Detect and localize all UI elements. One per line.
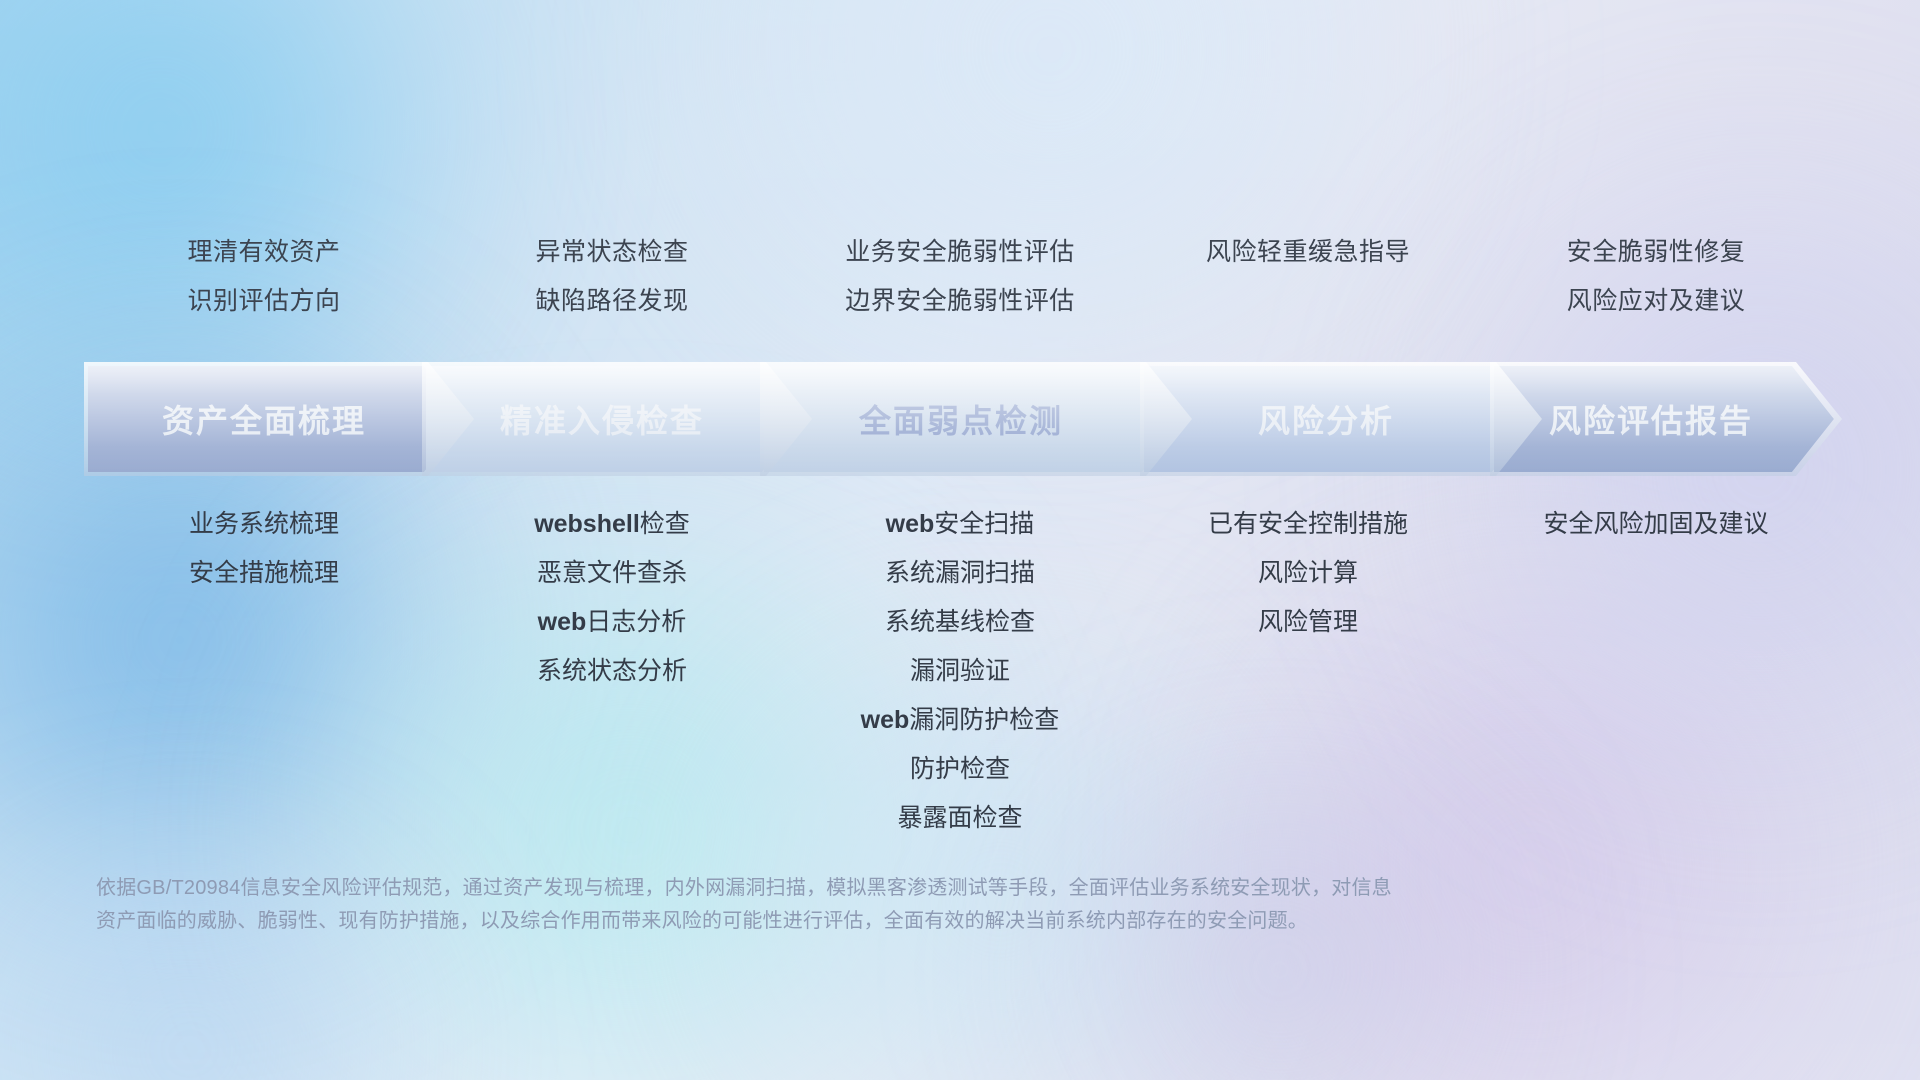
detail-item: 系统基线检查 [786, 598, 1134, 647]
top-note-line: 理清有效资产 [90, 228, 438, 277]
footer-line-2: 资产面临的威胁、脆弱性、现有防护措施，以及综合作用而带来风险的可能性进行评估，全… [96, 905, 1616, 938]
detail-item-cjk: 系统状态分析 [537, 657, 687, 685]
top-note-column-5: 安全脆弱性修复 风险应对及建议 [1482, 228, 1830, 326]
footer-line-1: 依据GB/T20984信息安全风险评估规范，通过资产发现与梳理，内外网漏洞扫描，… [96, 872, 1616, 905]
detail-item: 风险管理 [1134, 598, 1482, 647]
detail-item-latin: web [538, 608, 587, 636]
detail-item-cjk: 安全措施梳理 [189, 559, 339, 587]
detail-item-latin: webshell [534, 510, 640, 538]
detail-column-3: web安全扫描系统漏洞扫描系统基线检查漏洞验证web漏洞防护检查防护检查暴露面检… [786, 500, 1134, 843]
detail-column-2: webshell检查恶意文件查杀web日志分析系统状态分析 [438, 500, 786, 696]
top-note-line: 风险应对及建议 [1482, 277, 1830, 326]
top-note-line: 识别评估方向 [90, 277, 438, 326]
detail-item: 系统状态分析 [438, 647, 786, 696]
detail-item: webshell检查 [438, 500, 786, 549]
chevron-outline [1140, 362, 1542, 476]
chevron-outline [760, 362, 1192, 476]
detail-item: 业务系统梳理 [90, 500, 438, 549]
chevron-outline [422, 362, 812, 476]
detail-item: web日志分析 [438, 598, 786, 647]
detail-item-cjk: 风险计算 [1258, 559, 1358, 587]
detail-item: 已有安全控制措施 [1134, 500, 1482, 549]
detail-item-cjk: 恶意文件查杀 [537, 559, 687, 587]
top-note-column-4: 风险轻重缓急指导 [1134, 228, 1482, 326]
detail-item-cjk: 日志分析 [586, 608, 686, 636]
detail-item-cjk: 暴露面检查 [897, 804, 1022, 832]
detail-column-5: 安全风险加固及建议 [1482, 500, 1830, 549]
detail-item-latin: web [861, 706, 910, 734]
infographic-canvas: 理清有效资产 识别评估方向 异常状态检查 缺陷路径发现 业务安全脆弱性评估 边界… [0, 0, 1920, 1080]
detail-item: web安全扫描 [786, 500, 1134, 549]
top-note-column-2: 异常状态检查 缺陷路径发现 [438, 228, 786, 326]
detail-item: 恶意文件查杀 [438, 549, 786, 598]
chevron-outline [84, 362, 474, 476]
detail-item-cjk: 防护检查 [910, 755, 1010, 783]
detail-item-latin: web [886, 510, 935, 538]
footer-description: 依据GB/T20984信息安全风险评估规范，通过资产发现与梳理，内外网漏洞扫描，… [96, 872, 1616, 938]
top-note-column-1: 理清有效资产 识别评估方向 [90, 228, 438, 326]
detail-item: 安全风险加固及建议 [1482, 500, 1830, 549]
detail-item-cjk: 系统漏洞扫描 [885, 559, 1035, 587]
detail-item-cjk: 已有安全控制措施 [1208, 510, 1408, 538]
detail-item-cjk: 漏洞验证 [910, 657, 1010, 685]
top-note-line: 安全脆弱性修复 [1482, 228, 1830, 277]
detail-item: 防护检查 [786, 745, 1134, 794]
process-chevron-band: 资产全面梳理 精准入侵检查 全面弱点检测 风险分析 风险评估报告 [88, 366, 1834, 472]
detail-column-4: 已有安全控制措施风险计算风险管理 [1134, 500, 1482, 647]
detail-item-cjk: 安全风险加固及建议 [1543, 510, 1768, 538]
top-note-line: 业务安全脆弱性评估 [786, 228, 1134, 277]
detail-item-cjk: 风险管理 [1258, 608, 1358, 636]
detail-item-cjk: 漏洞防护检查 [909, 706, 1059, 734]
detail-item: 暴露面检查 [786, 794, 1134, 843]
top-note-line: 缺陷路径发现 [438, 277, 786, 326]
detail-item-cjk: 系统基线检查 [885, 608, 1035, 636]
detail-item-cjk: 业务系统梳理 [189, 510, 339, 538]
top-notes-row: 理清有效资产 识别评估方向 异常状态检查 缺陷路径发现 业务安全脆弱性评估 边界… [90, 228, 1830, 326]
top-note-line: 边界安全脆弱性评估 [786, 277, 1134, 326]
detail-item-cjk: 检查 [640, 510, 690, 538]
detail-item: 系统漏洞扫描 [786, 549, 1134, 598]
detail-item-cjk: 安全扫描 [934, 510, 1034, 538]
detail-item: 风险计算 [1134, 549, 1482, 598]
detail-column-1: 业务系统梳理安全措施梳理 [90, 500, 438, 598]
chevron-outline [1490, 362, 1842, 476]
detail-item: web漏洞防护检查 [786, 696, 1134, 745]
top-note-line: 异常状态检查 [438, 228, 786, 277]
detail-item: 漏洞验证 [786, 647, 1134, 696]
detail-lists-row: 业务系统梳理安全措施梳理 webshell检查恶意文件查杀web日志分析系统状态… [90, 500, 1830, 843]
top-note-line: 风险轻重缓急指导 [1134, 228, 1482, 277]
detail-item: 安全措施梳理 [90, 549, 438, 598]
top-note-column-3: 业务安全脆弱性评估 边界安全脆弱性评估 [786, 228, 1134, 326]
